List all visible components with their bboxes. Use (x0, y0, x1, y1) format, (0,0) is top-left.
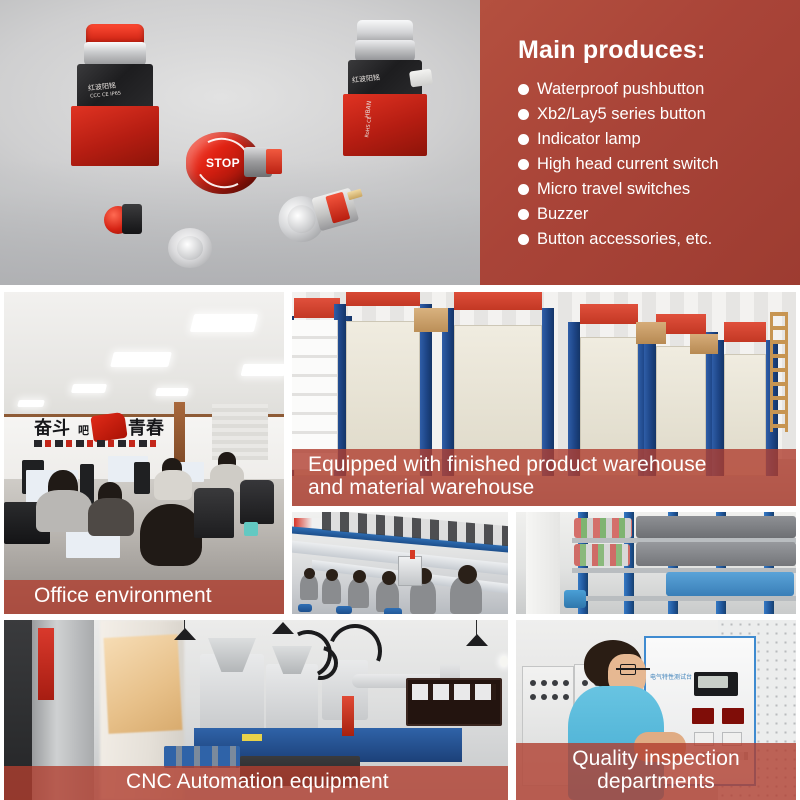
rack-red-box (346, 292, 420, 306)
window-blind (212, 404, 268, 460)
blue-bin (564, 590, 586, 608)
white-pillar (526, 512, 560, 614)
stored-goods-colorful (574, 518, 632, 538)
bullet-dot-icon (518, 109, 529, 120)
cardboard-carton (414, 308, 448, 332)
shelf-beam (572, 596, 796, 601)
ladder (770, 312, 788, 432)
bullet-dot-icon (518, 159, 529, 170)
mini-red-pushbutton (104, 202, 142, 236)
quality-inspection-photo: 电气特性测试台 Quality inspection departments (516, 620, 796, 800)
ceiling-light (241, 364, 284, 376)
produces-item-label: Buzzer (537, 202, 588, 227)
produces-item-label: Button accessories, etc. (537, 227, 712, 252)
worker-head (382, 571, 396, 585)
red-contact-block-2 (343, 94, 427, 156)
produces-item: Buzzer (518, 202, 800, 227)
chair (240, 480, 274, 524)
chair (194, 488, 234, 538)
quality-caption-line1: Quality inspection (516, 747, 796, 771)
teal-cup (244, 522, 258, 536)
main-produces-panel: Main produces: Waterproof pushbutton Xb2… (480, 0, 800, 285)
ceiling-light (155, 388, 189, 396)
cabinet-knob (541, 694, 547, 700)
test-equipment (398, 556, 422, 586)
rack-red-box (724, 322, 766, 342)
wall-subtext (34, 440, 156, 447)
wall-slogan-3: 青春 (128, 414, 164, 440)
square-pushbutton-metal: 红波阳铭 HBAN RoHS CE (330, 20, 440, 170)
cardboard-carton (636, 322, 666, 344)
white-boxes-stack (292, 320, 338, 470)
pendant-cord (476, 620, 477, 636)
stop-contact-block (266, 149, 282, 174)
worker-head (304, 568, 315, 579)
yellow-sticker (242, 734, 262, 741)
bullet-dot-icon (518, 234, 529, 245)
cnc-automation-photo: CNC Automation equipment (4, 620, 508, 800)
wall-slogan: 奋斗 (34, 414, 70, 440)
produces-item-label: Waterproof pushbutton (537, 77, 704, 102)
red-column-machine (342, 696, 354, 736)
person-shirt (88, 498, 134, 536)
bullet-dot-icon (518, 209, 529, 220)
warehouse-caption: Equipped with finished product warehouse… (292, 449, 796, 506)
quality-caption-line2: departments (516, 770, 796, 794)
produces-item: Waterproof pushbutton (518, 77, 800, 102)
cardboard-carton (690, 334, 718, 354)
produces-item: Micro travel switches (518, 177, 800, 202)
ring-illuminated-button (168, 228, 214, 270)
warehouse-caption-line1: Equipped with finished product warehouse (308, 453, 796, 477)
bullet-dot-icon (518, 84, 529, 95)
produces-item: Indicator lamp (518, 127, 800, 152)
worker-head (458, 565, 477, 584)
quality-caption: Quality inspection departments (516, 743, 796, 800)
fist-graphic (90, 412, 127, 442)
assembly-line-photo (292, 512, 508, 614)
produces-list: Waterproof pushbutton Xb2/Lay5 series bu… (518, 77, 800, 252)
temp-controller (722, 708, 744, 724)
blurred-poster (104, 634, 183, 734)
worker-stool (298, 604, 312, 612)
ceiling-light (17, 400, 45, 407)
emergency-stop-button: STOP (186, 126, 278, 204)
person-shirt (36, 490, 92, 532)
cabinet-knob (563, 694, 569, 700)
light-bulb-icon (500, 656, 508, 667)
square-pushbutton-red: 红波阳铭 CCC CE IP65 (60, 24, 170, 184)
produces-item-label: High head current switch (537, 152, 719, 177)
blue-parts-tray (164, 746, 240, 768)
cabinet-knob (530, 694, 536, 700)
material-storage-photo (516, 512, 796, 614)
cnc-caption-text: CNC Automation equipment (126, 770, 508, 794)
ceiling-light (190, 314, 258, 332)
office-caption: Office environment (4, 580, 284, 614)
produces-item: High head current switch (518, 152, 800, 177)
ring-inner (177, 236, 203, 260)
stored-goods-grey (636, 542, 796, 566)
produces-item-label: Indicator lamp (537, 127, 641, 152)
produces-item-label: Micro travel switches (537, 177, 690, 202)
seated-person-foreground (140, 504, 202, 566)
stored-goods-colorful (574, 544, 630, 566)
warehouse-caption-line2: and material warehouse (308, 476, 796, 500)
display-cells (412, 684, 496, 700)
worker-stool (336, 606, 352, 614)
bullet-dot-icon (518, 184, 529, 195)
cabinet-knob (552, 680, 558, 686)
ceiling-light (71, 384, 107, 393)
produces-item-label: Xb2/Lay5 series button (537, 102, 706, 127)
rack-red-box (580, 304, 638, 324)
monitor (134, 462, 150, 494)
product-hero-photo: 红波阳铭 CCC CE IP65 红波阳铭 HBAN RoHS CE STOP (0, 0, 480, 285)
stored-goods-blue (666, 572, 794, 596)
worker-stool (384, 608, 402, 614)
cabinet-knob (563, 680, 569, 686)
red-indicator (410, 550, 415, 559)
temp-controller (692, 708, 714, 724)
cnc-caption: CNC Automation equipment (4, 766, 508, 800)
produces-heading: Main produces: (518, 36, 800, 65)
office-environment-photo: 奋斗 吧 青春 Office environment (4, 292, 284, 614)
stored-goods-grey (636, 516, 796, 538)
produces-item: Button accessories, etc. (518, 227, 800, 252)
black-housing (122, 204, 142, 234)
terminal-tab (409, 69, 433, 88)
pendant-cord (184, 620, 185, 630)
red-contact-block (71, 106, 159, 166)
meter-screen (698, 676, 728, 688)
bullet-dot-icon (518, 134, 529, 145)
collage-page: 红波阳铭 CCC CE IP65 红波阳铭 HBAN RoHS CE STOP (0, 0, 800, 800)
worker-head (353, 570, 366, 583)
red-wall-sign (38, 628, 54, 700)
cabinet-knob (582, 680, 588, 686)
wall-slogan-2: 吧 (78, 422, 89, 438)
warehouse-photo: Equipped with finished product warehouse… (292, 292, 796, 506)
produces-item: Xb2/Lay5 series button (518, 102, 800, 127)
cabinet-knob (530, 680, 536, 686)
rack-red-box (454, 292, 542, 310)
office-caption-text: Office environment (34, 584, 284, 608)
eyeglasses-lens (620, 664, 636, 675)
cabinet-knob (552, 694, 558, 700)
cabinet-knob (541, 680, 547, 686)
person-shirt (154, 470, 192, 500)
worker-head (326, 569, 338, 581)
ceiling-light (110, 352, 172, 367)
